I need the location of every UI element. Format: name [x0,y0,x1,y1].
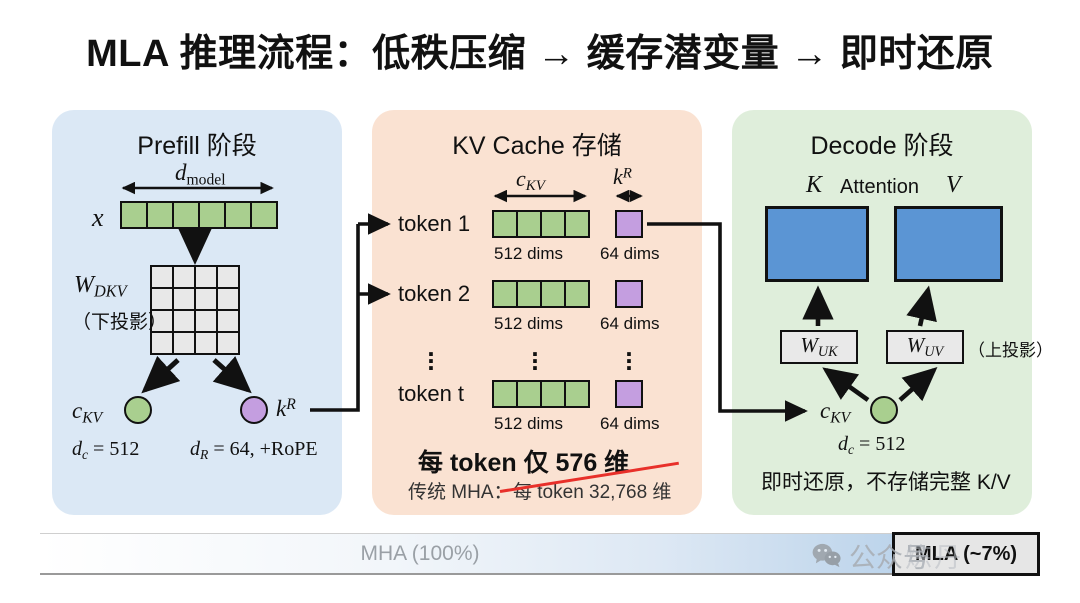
panel-kv-cache-title: KV Cache 存储 [372,126,702,162]
decode-wuk-box: WUK [780,330,858,364]
diagram-canvas: MLA 推理流程：低秩压缩 → 缓存潜变量 → 即时还原 Prefill 阶段 … [0,0,1080,603]
kv-row-label-t: token t [398,381,464,407]
decode-k-block [765,206,869,282]
dmodel-label: dmodel [175,160,226,189]
kv-row-label-1: token 1 [398,211,470,237]
prefill-ckv-circle [124,396,152,424]
kv-ckv-header: cKV [516,166,545,195]
decode-attention-label: Attention [840,176,919,199]
kv-compare-struck: 每 token 32,768 维 [513,477,671,504]
prefill-kr-label: kR [276,396,296,422]
decode-dc-dim: dc = 512 [838,433,905,458]
kv-row-green-2 [492,280,590,308]
watermark-tail: 炼丹 [905,536,963,575]
kv-row-purple-1 [615,210,643,238]
decode-v-block [894,206,1003,282]
bar-mha-label: MHA (100%) [40,533,800,575]
prefill-dc-dim: dc = 512 [72,438,139,463]
x-vector-cells [120,201,278,229]
prefill-ckv-label: cKV [72,398,102,427]
kv-row-purple-2 [615,280,643,308]
decode-k-label: K [806,172,822,199]
decode-wuv-box: WUV [886,330,964,364]
kv-ellipsis-right: ... [622,344,636,365]
kv-row-green-t [492,380,590,408]
kv-ellipsis-left: ... [424,344,438,365]
kv-row-purple-t [615,380,643,408]
wdkv-label-cn: （下投影） [72,307,167,334]
kv-row-green-1 [492,210,590,238]
decode-wuv-label: WUV [907,333,944,361]
kv-kr-header: kR [613,164,632,190]
decode-wuk-label: WUK [800,333,837,361]
decode-ckv-label: cKV [820,398,850,427]
kv-row-purple-dims-2: 64 dims [600,314,660,334]
x-label: x [92,203,104,233]
kv-row-purple-dims-1: 64 dims [600,244,660,264]
decode-footer: 即时还原，不存储完整 K/V [761,466,1011,496]
panel-decode-title: Decode 阶段 [732,126,1032,162]
panel-prefill-title: Prefill 阶段 [52,126,342,162]
wechat-icon [812,543,842,569]
kv-ellipsis-mid: ... [528,344,542,365]
decode-upproj-label: （上投影） [968,336,1053,361]
kv-row-label-2: token 2 [398,281,470,307]
wdkv-label: WDKV [74,272,127,302]
page-title: MLA 推理流程：低秩压缩 → 缓存潜变量 → 即时还原 [0,22,1080,77]
prefill-kr-circle [240,396,268,424]
kv-row-green-dims-1: 512 dims [494,244,563,264]
decode-ckv-circle [870,396,898,424]
kv-row-green-dims-t: 512 dims [494,414,563,434]
prefill-dr-dim: dR = 64, +RoPE [190,438,318,463]
kv-row-purple-dims-t: 64 dims [600,414,660,434]
kv-row-green-dims-2: 512 dims [494,314,563,334]
kv-compare-prefix: 传统 MHA： [408,477,513,504]
decode-v-label: V [946,172,961,199]
